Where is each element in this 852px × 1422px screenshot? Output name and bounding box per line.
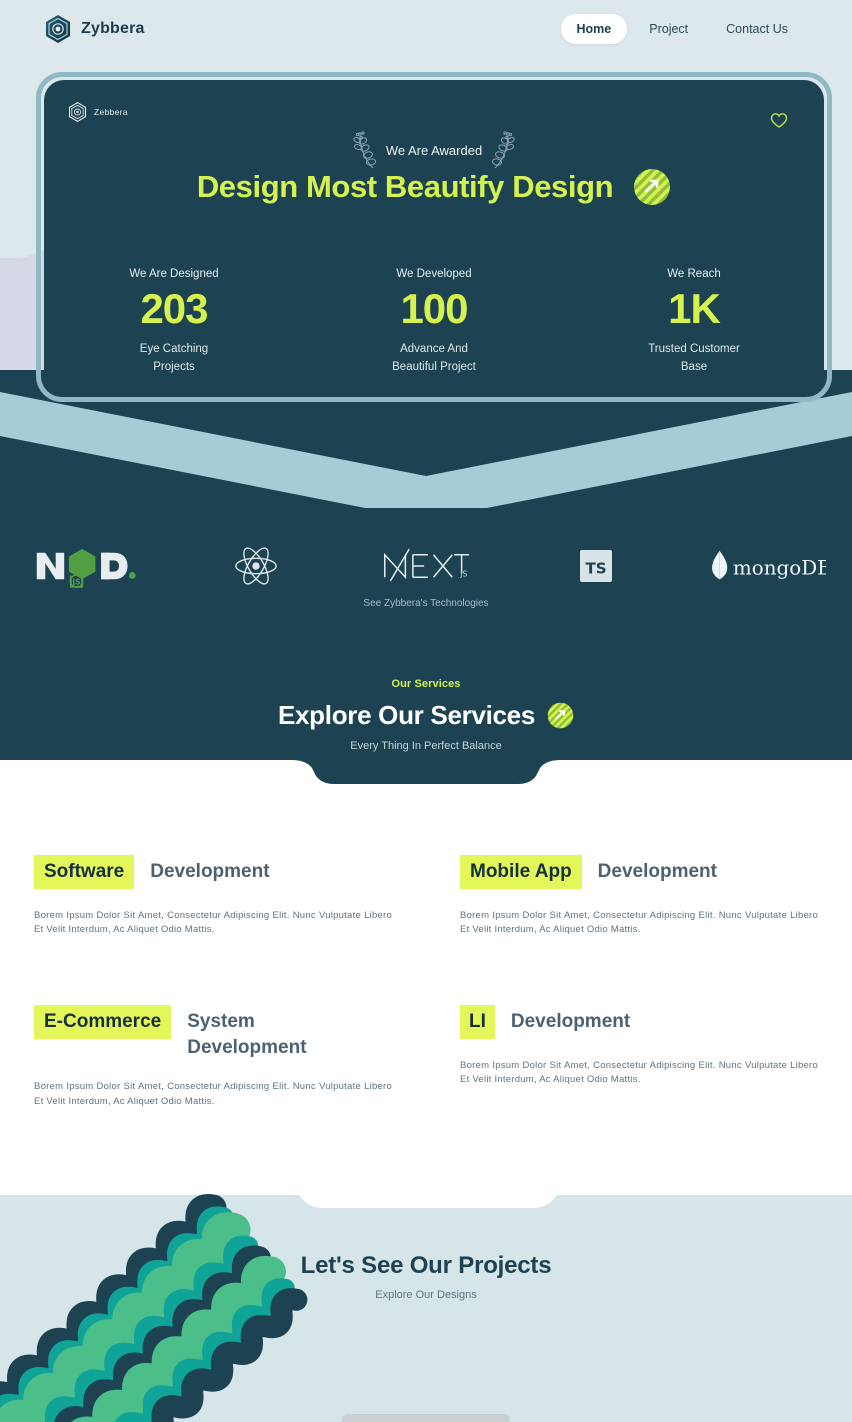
hero-card: Zebbera	[44, 80, 824, 396]
service-card-heading: LI Development	[460, 1005, 818, 1039]
nextjs-logo-icon: JS	[381, 545, 471, 592]
hero-card-logo: Zebbera	[68, 102, 128, 122]
striped-circle-arrow-badge-icon	[633, 168, 671, 206]
stat-item: We Developed 100 Advance AndBeautiful Pr…	[304, 268, 564, 377]
service-card-mobile-app-development[interactable]: Mobile App Development Borem Ipsum Dolor…	[426, 855, 852, 938]
stat-value: 100	[304, 288, 564, 330]
hero-title: Design Most Beautify Design	[197, 169, 613, 205]
service-description: Borem Ipsum Dolor Sit Amet, Consectetur …	[34, 1080, 392, 1109]
service-description: Borem Ipsum Dolor Sit Amet, Consectetur …	[460, 1059, 818, 1088]
service-tag: Software	[34, 855, 134, 889]
node-js-logo-icon: JS	[33, 543, 137, 594]
service-card-heading: Software Development	[34, 855, 392, 889]
services-title: Explore Our Services	[278, 700, 535, 731]
striped-circle-arrow-badge-icon	[547, 702, 574, 729]
service-title: Development	[150, 855, 269, 885]
svg-text:JS: JS	[459, 569, 467, 578]
stat-description: Advance AndBeautiful Project	[304, 340, 564, 377]
logo-cell-mongodb: mongoDB	[682, 548, 852, 589]
service-card-ecommerce-system-development[interactable]: E-Commerce System Development Borem Ipsu…	[0, 1005, 426, 1110]
stat-value: 1K	[564, 288, 824, 330]
service-title: Development	[511, 1005, 630, 1035]
services-eyebrow: Our Services	[0, 678, 852, 690]
service-card-software-development[interactable]: Software Development Borem Ipsum Dolor S…	[0, 855, 426, 938]
stat-label: We Reach	[564, 268, 824, 280]
heart-outline-icon[interactable]	[770, 112, 788, 129]
service-tag: E-Commerce	[34, 1005, 171, 1039]
laurel-branch-icon	[486, 130, 516, 170]
hexagon-spiral-logo-icon	[68, 102, 87, 122]
react-logo-icon	[232, 544, 280, 593]
projects-header: Let's See Our Projects Explore Our Desig…	[0, 1252, 852, 1301]
project-card-preview[interactable]	[342, 1414, 510, 1422]
services-title-row: Explore Our Services	[0, 700, 852, 731]
service-tag: LI	[460, 1005, 495, 1039]
stat-item: We Are Designed 203 Eye CatchingProjects	[44, 268, 304, 377]
service-card-li-development[interactable]: LI Development Borem Ipsum Dolor Sit Ame…	[426, 1005, 852, 1110]
nav-item-project[interactable]: Project	[633, 14, 704, 44]
laurel-branch-icon	[352, 130, 382, 170]
hexagon-spiral-logo-icon	[44, 14, 72, 44]
svg-text:TS: TS	[586, 559, 607, 577]
logo-cell-react	[170, 544, 340, 593]
svg-text:mongoDB: mongoDB	[733, 556, 826, 579]
typescript-logo-icon: TS	[580, 550, 612, 587]
white-tab-shape	[296, 1158, 560, 1208]
landing-page: Zybbera Home Project Contact Us Zebbera	[0, 0, 852, 1422]
nav-item-home[interactable]: Home	[561, 14, 628, 44]
services-row-1: Software Development Borem Ipsum Dolor S…	[0, 855, 852, 938]
logo-cell-node: JS	[0, 543, 170, 594]
hero-stats: We Are Designed 203 Eye CatchingProjects…	[44, 268, 824, 377]
service-title: Development	[598, 855, 717, 885]
logo-cell-typescript: TS	[511, 550, 681, 587]
hero-logo-label: Zebbera	[94, 107, 128, 117]
service-description: Borem Ipsum Dolor Sit Amet, Consectetur …	[34, 909, 392, 938]
brand-logo[interactable]: Zybbera	[44, 14, 145, 44]
brand-name: Zybbera	[81, 20, 145, 38]
stat-value: 203	[44, 288, 304, 330]
service-title: System Development	[187, 1005, 357, 1060]
nav-item-contact-us[interactable]: Contact Us	[710, 14, 804, 44]
services-row-2: E-Commerce System Development Borem Ipsu…	[0, 1005, 852, 1110]
stat-description: Trusted CustomerBase	[564, 340, 824, 377]
services-card-grid: Software Development Borem Ipsum Dolor S…	[0, 855, 852, 1110]
technology-logo-strip: JS	[0, 536, 852, 600]
stat-label: We Developed	[304, 268, 564, 280]
hero-title-row: Design Most Beautify Design	[44, 168, 824, 206]
stat-description: Eye CatchingProjects	[44, 340, 304, 377]
service-tag: Mobile App	[460, 855, 582, 889]
decorative-wave-graphic	[0, 1185, 390, 1422]
services-subtitle: Every Thing In Perfect Balance	[0, 740, 852, 752]
projects-title: Let's See Our Projects	[0, 1252, 852, 1280]
top-navigation-bar: Zybbera Home Project Contact Us	[0, 0, 852, 58]
stat-label: We Are Designed	[44, 268, 304, 280]
awarded-label: We Are Awarded	[386, 143, 482, 158]
technology-caption: See Zybbera's Technologies	[0, 598, 852, 609]
mongodb-logo-icon: mongoDB	[708, 548, 826, 589]
logo-cell-nextjs: JS	[341, 545, 511, 592]
service-description: Borem Ipsum Dolor Sit Amet, Consectetur …	[460, 909, 818, 938]
services-header: Our Services Explore Our Services Every …	[0, 678, 852, 752]
service-card-heading: E-Commerce System Development	[34, 1005, 392, 1060]
stat-item: We Reach 1K Trusted CustomerBase	[564, 268, 824, 377]
nav-links: Home Project Contact Us	[561, 14, 804, 44]
svg-text:JS: JS	[72, 577, 81, 586]
projects-subtitle: Explore Our Designs	[0, 1289, 852, 1301]
service-card-heading: Mobile App Development	[460, 855, 818, 889]
awarded-banner: We Are Awarded	[44, 130, 824, 170]
